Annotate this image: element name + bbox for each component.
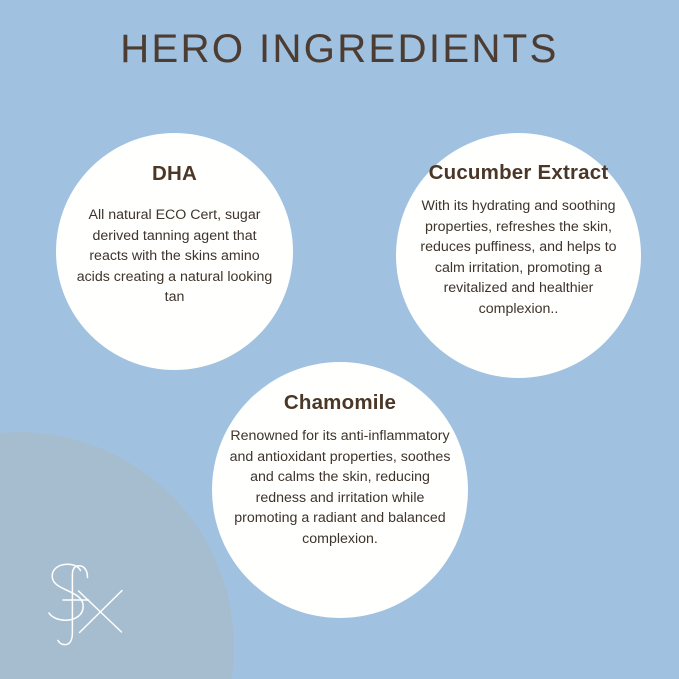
- hero-ingredients-infographic: HERO INGREDIENTS DHA All natural ECO Cer…: [0, 0, 679, 679]
- ingredient-card-cucumber-extract: Cucumber Extract With its hydrating and …: [396, 133, 641, 378]
- ingredient-card-chamomile: Chamomile Renowned for its anti-inflamma…: [212, 362, 468, 618]
- ingredient-name-cucumber-extract: Cucumber Extract: [429, 161, 609, 185]
- sfx-logo: [38, 558, 148, 654]
- ingredient-name-chamomile: Chamomile: [284, 390, 396, 416]
- ingredient-description-chamomile: Renowned for its anti-inflammatory and a…: [223, 426, 457, 549]
- ingredient-card-dha: DHA All natural ECO Cert, sugar derived …: [56, 133, 293, 370]
- ingredient-description-cucumber-extract: With its hydrating and soothing properti…: [415, 196, 623, 319]
- sfx-monogram-icon: [38, 558, 148, 654]
- ingredient-name-dha: DHA: [152, 161, 197, 187]
- ingredient-description-dha: All natural ECO Cert, sugar derived tann…: [77, 205, 273, 308]
- page-title: HERO INGREDIENTS: [0, 27, 679, 71]
